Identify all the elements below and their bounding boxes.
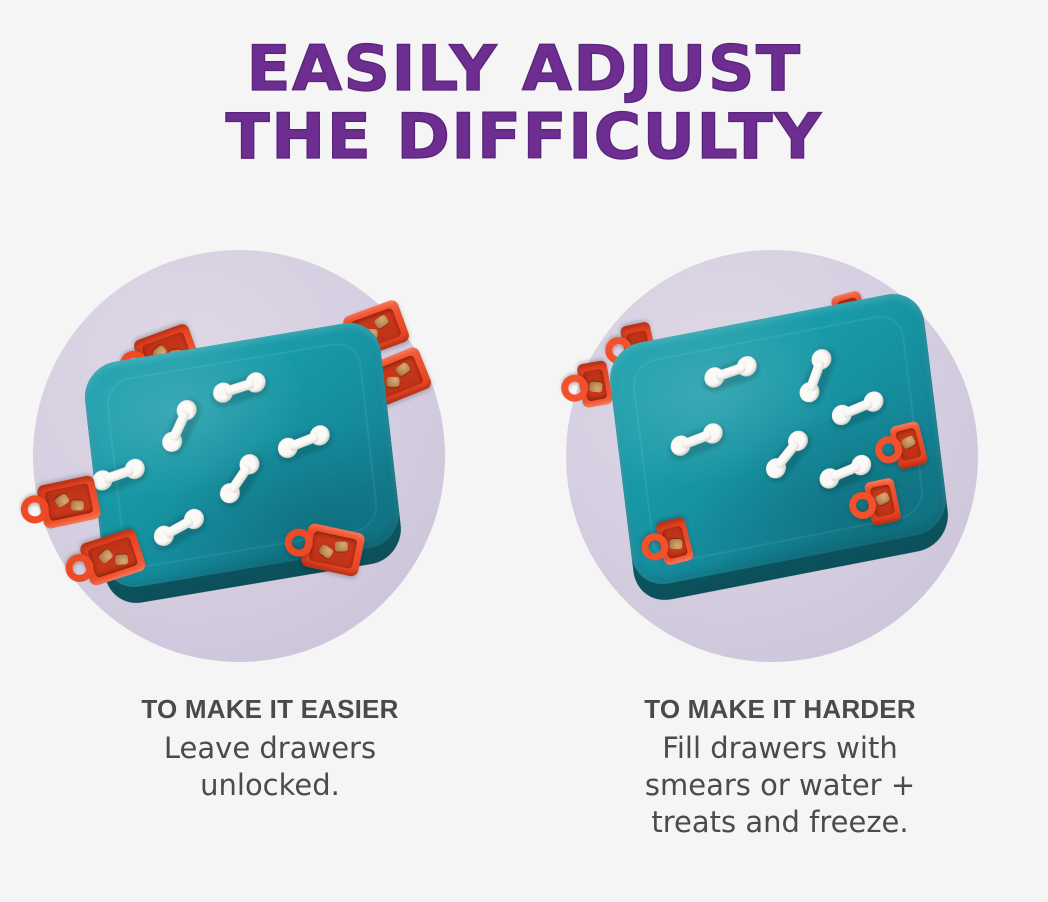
panel-easier [0,240,524,680]
caption-harder-body: Fill drawers with smears or water + trea… [540,730,1020,841]
treat [98,548,114,564]
treat [387,377,400,387]
treat [669,539,682,549]
treat [115,554,129,565]
drawer-well [87,536,138,578]
headline-line-1: EASILY ADJUST [0,38,1048,99]
treat [589,382,603,393]
drawer-left-upper [555,360,614,412]
promo-graphic: EASILY ADJUST THE DIFFICULTY [0,0,1048,902]
treat [318,544,334,560]
caption-harder-title: TO MAKE IT HARDER [540,694,1020,726]
dog-puzzle-toy-closed [524,240,1048,680]
headline-line-2: THE DIFFICULTY [0,106,1048,167]
product-comparison [0,240,1048,680]
drawer-left-upper [18,473,102,534]
treat [71,500,84,510]
treat [900,435,916,450]
treat [54,493,70,509]
caption-easier: TO MAKE IT EASIER Leave drawers unlocked… [30,694,510,804]
dog-puzzle-toy-open [0,240,524,680]
treat [395,361,411,377]
caption-harder: TO MAKE IT HARDER Fill drawers with smea… [540,694,1020,841]
treat [335,541,348,551]
caption-easier-body: Leave drawers unlocked. [30,730,510,804]
drawer-well [308,531,357,569]
treat [875,491,891,506]
panel-harder [524,240,1048,680]
captions: TO MAKE IT EASIER Leave drawers unlocked… [0,694,1048,874]
drawer-well [44,483,93,521]
caption-easier-title: TO MAKE IT EASIER [30,694,510,726]
page-title: EASILY ADJUST THE DIFFICULTY [0,38,1048,168]
